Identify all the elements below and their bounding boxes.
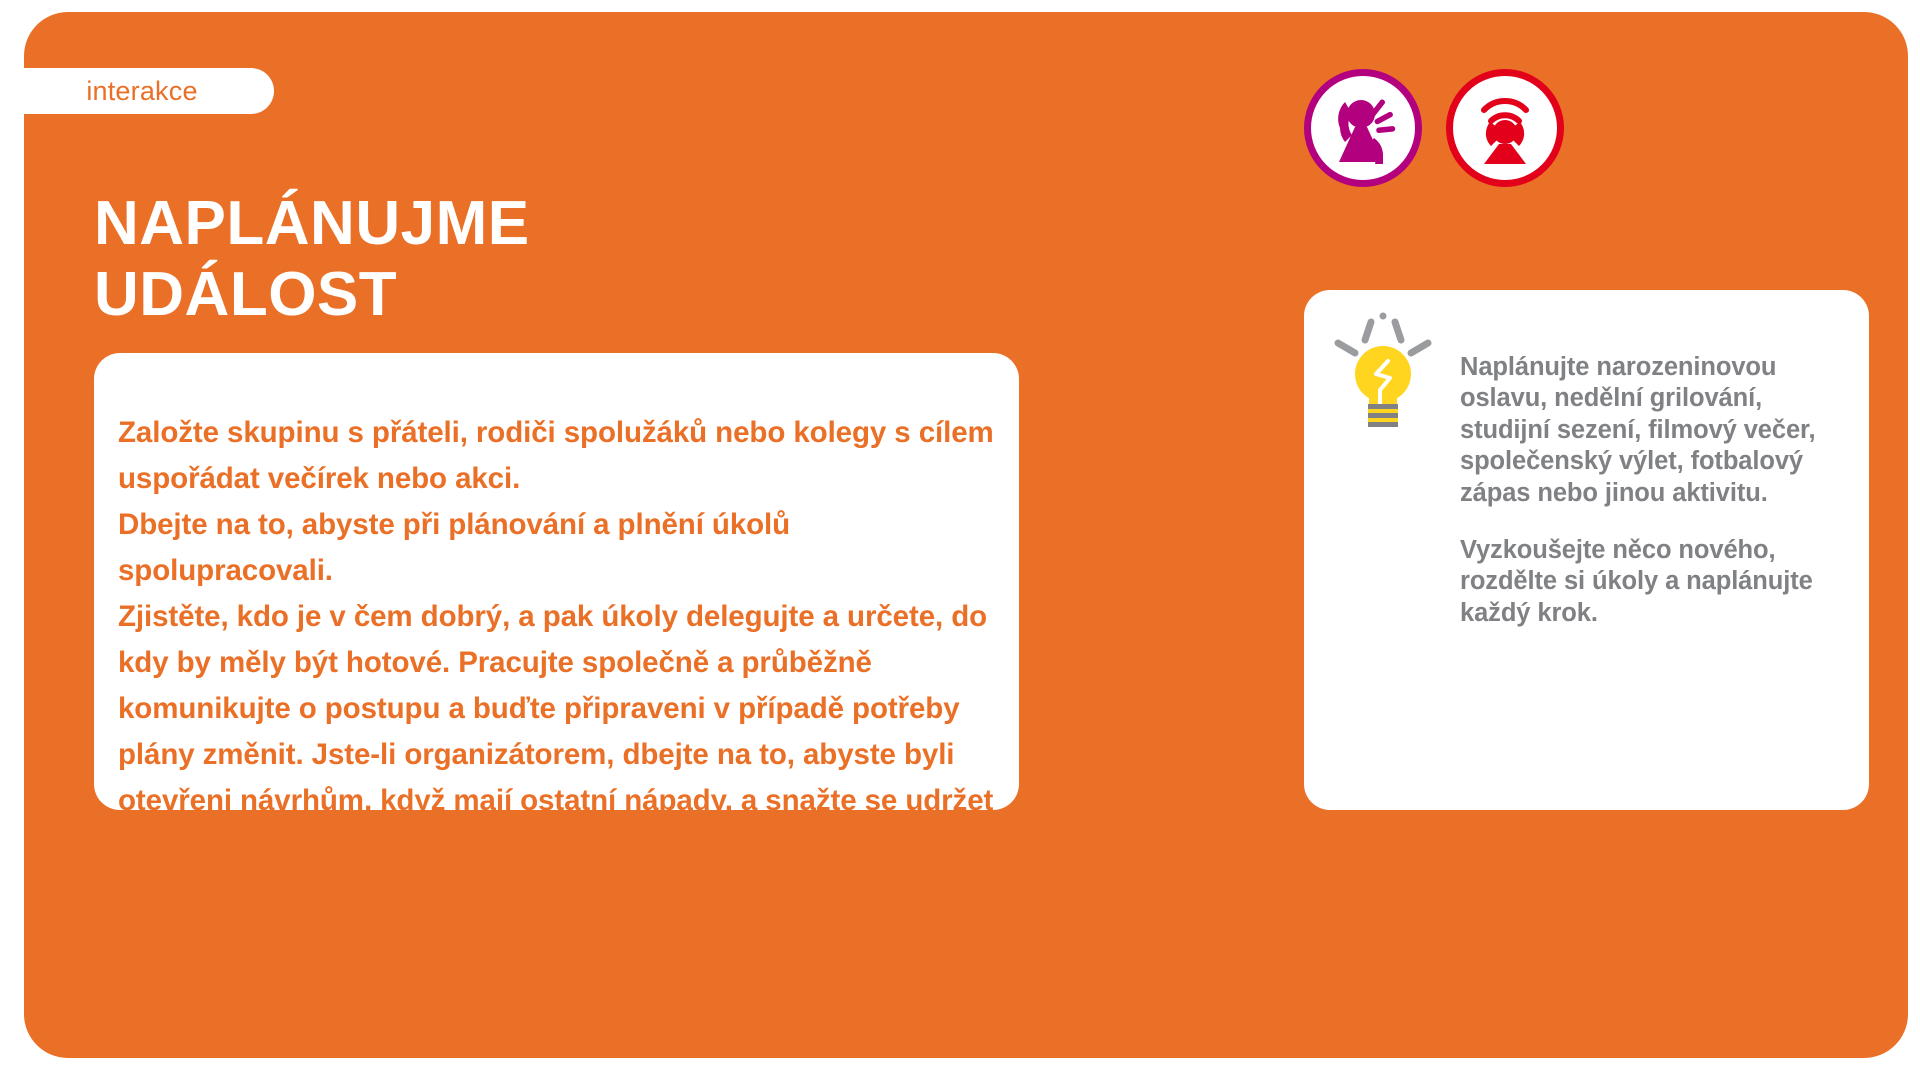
tip-paragraph-1: Naplánujte narozeninovou oslavu, nedělní… bbox=[1460, 352, 1851, 510]
badge-icon-row bbox=[1304, 69, 1564, 187]
slide-root: interakce NAPLÁNUJME UDÁLOST bbox=[0, 0, 1920, 1080]
tip-card: Naplánujte narozeninovou oslavu, nedělní… bbox=[1304, 290, 1869, 810]
badge-person-broadcast bbox=[1446, 69, 1564, 187]
tab-interakce-label: interakce bbox=[86, 78, 197, 105]
person-broadcast-signal-icon bbox=[1453, 76, 1557, 180]
page-title: NAPLÁNUJME UDÁLOST bbox=[94, 188, 530, 332]
content-card: Založte skupinu s přáteli, rodiči spoluž… bbox=[94, 353, 1019, 810]
badge-person-speaking bbox=[1304, 69, 1422, 187]
tip-card-inner: Naplánujte narozeninovou oslavu, nedělní… bbox=[1324, 304, 1851, 655]
tab-interakce[interactable]: interakce bbox=[24, 68, 274, 114]
tip-paragraph-2: Vyzkoušejte něco nového, rozdělte si úko… bbox=[1460, 535, 1851, 630]
person-speaking-icon bbox=[1311, 76, 1415, 180]
orange-panel: interakce NAPLÁNUJME UDÁLOST bbox=[24, 12, 1908, 1058]
content-card-body: Založte skupinu s přáteli, rodiči spoluž… bbox=[118, 410, 1008, 870]
tip-text-column: Naplánujte narozeninovou oslavu, nedělní… bbox=[1460, 304, 1851, 655]
lightbulb-icon bbox=[1324, 312, 1442, 432]
